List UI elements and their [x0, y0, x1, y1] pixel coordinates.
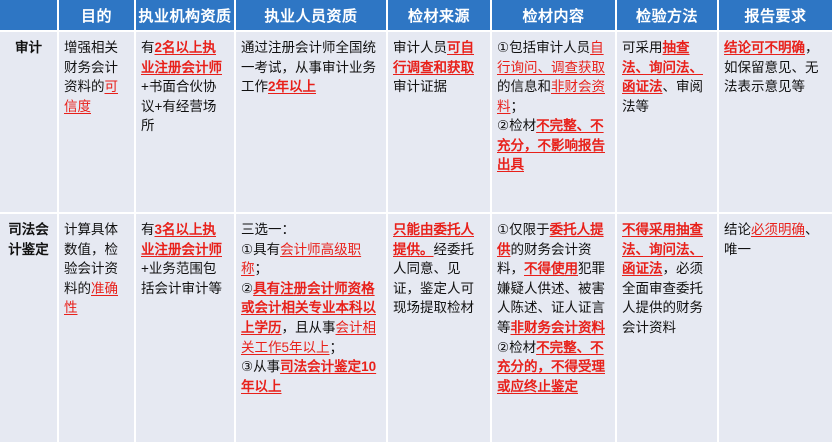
cell-firm-qualification-audit: 有2名以上执业注册会计师+书面合伙协议+有经营场所	[135, 31, 235, 213]
text-run: 审计证据	[393, 79, 447, 94]
cell-text: 通过注册会计师全国统一考试，从事审计业务工作2年以上	[241, 38, 381, 97]
text-run: ①具有	[241, 242, 280, 257]
text-run: 结论可不明确	[724, 40, 805, 55]
text-run: 不得使用	[524, 261, 578, 276]
cell-text: 不得采用抽查法、询问法、函证法，必须全面审查委托人提供的财务会计资料	[622, 220, 712, 337]
cell-report-requirement-forensic: 结论必须明确、唯一	[718, 213, 832, 442]
text-run: 结论	[724, 222, 751, 237]
text-run: ②检材	[497, 340, 536, 355]
text-run: ；	[330, 340, 344, 355]
cell-text: 有2名以上执业注册会计师+书面合伙协议+有经营场所	[141, 38, 229, 136]
text-run: +书面合伙协议+有经营场所	[141, 79, 216, 133]
text-run: 可采用	[622, 40, 663, 55]
text-run: ③从事	[241, 359, 280, 374]
text-run: ②	[241, 281, 253, 296]
text-run: 有	[141, 40, 155, 55]
cell-purpose-forensic: 计算具体数值，检验会计资料的准确性	[58, 213, 135, 442]
cell-report-requirement-audit: 结论可不明确，如保留意见、无法表示意见等	[718, 31, 832, 213]
header-firm-qualification: 执业机构资质	[135, 0, 235, 31]
header-material-content: 检材内容	[491, 0, 616, 31]
text-run: ①包括审计人员	[497, 40, 590, 55]
cell-firm-qualification-forensic: 有3名以上执业注册会计师+业务范围包括会计审计等	[135, 213, 235, 442]
text-run: +业务范围包括会计审计等	[141, 261, 222, 296]
row-label-forensic-accounting: 司法会计鉴定	[0, 213, 58, 442]
text-run: ②检材	[497, 118, 536, 133]
text-run: 非财务会计资料	[511, 320, 606, 335]
header-personnel-qualification: 执业人员资质	[235, 0, 387, 31]
text-run: 2年以上	[268, 79, 316, 94]
cell-personnel-qualification-audit: 通过注册会计师全国统一考试，从事审计业务工作2年以上	[235, 31, 387, 213]
header-corner-blank	[0, 0, 58, 31]
cell-text: ①包括审计人员自行询问、调查获取的信息和非财会资料；②检材不完整、不充分，不影响…	[497, 38, 610, 175]
header-report-requirement: 报告要求	[718, 0, 832, 31]
text-run: 审计人员	[393, 40, 447, 55]
cell-material-content-forensic: ①仅限于委托人提供的财务会计资料，不得使用犯罪嫌疑人供述、被害人陈述、证人证言等…	[491, 213, 616, 442]
cell-text: 可采用抽查法、询问法、函证法、审阅法等	[622, 38, 712, 116]
row-label-audit: 审计	[0, 31, 58, 213]
cell-purpose-audit: 增强相关财务会计资料的可信度	[58, 31, 135, 213]
text-run: 的信息和	[497, 79, 551, 94]
cell-material-content-audit: ①包括审计人员自行询问、调查获取的信息和非财会资料；②检材不完整、不充分，不影响…	[491, 31, 616, 213]
text-run: 三选一：	[241, 222, 295, 237]
header-inspection-method: 检验方法	[616, 0, 718, 31]
cell-material-source-forensic: 只能由委托人提供。经委托人同意、见证，鉴定人可现场提取检材	[387, 213, 491, 442]
text-run: ；	[511, 99, 525, 114]
cell-inspection-method-audit: 可采用抽查法、询问法、函证法、审阅法等	[616, 31, 718, 213]
cell-text: 有3名以上执业注册会计师+业务范围包括会计审计等	[141, 220, 229, 298]
text-run: 有	[141, 222, 155, 237]
text-run: ；	[255, 261, 269, 276]
text-run: ①仅限于	[497, 222, 550, 237]
table-header-row: 目的 执业机构资质 执业人员资质 检材来源 检材内容 检验方法 报告要求	[0, 0, 832, 31]
cell-text: 计算具体数值，检验会计资料的准确性	[64, 220, 129, 318]
text-run: 必须明确	[751, 222, 805, 237]
cell-text: 只能由委托人提供。经委托人同意、见证，鉴定人可现场提取检材	[393, 220, 485, 318]
comparison-table: 目的 执业机构资质 执业人员资质 检材来源 检材内容 检验方法 报告要求 审计增…	[0, 0, 832, 442]
cell-personnel-qualification-forensic: 三选一：①具有会计师高级职称；②具有注册会计师资格或会计相关专业本科以上学历，且…	[235, 213, 387, 442]
header-purpose: 目的	[58, 0, 135, 31]
cell-text: 结论必须明确、唯一	[724, 220, 827, 259]
cell-text: ①仅限于委托人提供的财务会计资料，不得使用犯罪嫌疑人供述、被害人陈述、证人证言等…	[497, 220, 610, 396]
cell-text: 结论可不明确，如保留意见、无法表示意见等	[724, 38, 827, 97]
cell-text: 增强相关财务会计资料的可信度	[64, 38, 129, 116]
text-run: ，且从事	[282, 320, 336, 335]
cell-inspection-method-forensic: 不得采用抽查法、询问法、函证法，必须全面审查委托人提供的财务会计资料	[616, 213, 718, 442]
table-row: 审计增强相关财务会计资料的可信度有2名以上执业注册会计师+书面合伙协议+有经营场…	[0, 31, 832, 213]
cell-text: 三选一：①具有会计师高级职称；②具有注册会计师资格或会计相关专业本科以上学历，且…	[241, 220, 381, 396]
cell-material-source-audit: 审计人员可自行调查和获取审计证据	[387, 31, 491, 213]
header-material-source: 检材来源	[387, 0, 491, 31]
cell-text: 审计人员可自行调查和获取审计证据	[393, 38, 485, 97]
table-row: 司法会计鉴定计算具体数值，检验会计资料的准确性有3名以上执业注册会计师+业务范围…	[0, 213, 832, 442]
